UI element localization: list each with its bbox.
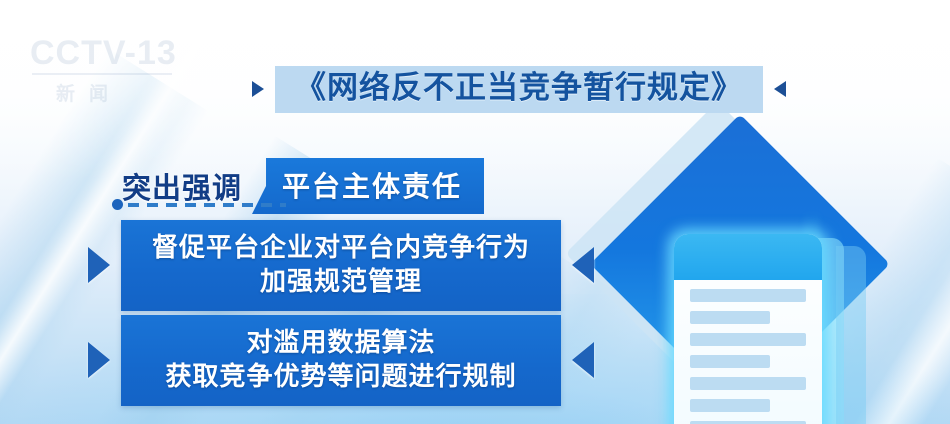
triangle-left-icon (572, 247, 594, 283)
triangle-right-icon (252, 81, 264, 97)
point-box-2: 对滥用数据算法 获取竞争优势等问题进行规制 (121, 315, 561, 406)
emphasis-underline (112, 199, 286, 210)
broadcast-graphic-slide: CCTV-13 新闻 《网络反不正当竞争暂行规定》 突出强调 (0, 0, 950, 424)
headline-band: 《网络反不正当竞争暂行规定》 (275, 66, 763, 113)
point-line: 获取竞争优势等问题进行规制 (139, 359, 543, 393)
emphasis-banner: 平台主体责任 (252, 158, 484, 214)
cctv-channel-label: 新闻 (30, 79, 190, 106)
point-box-1: 督促平台企业对平台内竞争行为 加强规范管理 (121, 220, 561, 311)
document-text-line (690, 355, 770, 368)
triangle-left-icon (572, 342, 594, 378)
document-diamond-illustration (608, 142, 938, 424)
cctv-channel-text: CCTV-13 (30, 36, 190, 70)
triangle-left-icon (774, 81, 786, 97)
point-line: 督促平台企业对平台内竞争行为 (139, 230, 543, 264)
document-header-bar (674, 234, 822, 280)
cctv-watermark: CCTV-13 新闻 (30, 36, 190, 106)
headline-banner: 《网络反不正当竞争暂行规定》 (252, 66, 786, 113)
triangle-right-icon (88, 342, 110, 378)
page-title: 《网络反不正当竞争暂行规定》 (295, 71, 743, 106)
triangle-right-icon (88, 247, 110, 283)
document-icon (674, 234, 822, 424)
bullet-dot-icon (112, 199, 123, 210)
document-text-line (690, 311, 770, 324)
document-sheet-back-2 (836, 246, 866, 424)
dashed-line (128, 203, 286, 207)
document-text-line (690, 377, 806, 390)
document-text-line (690, 399, 770, 412)
point-line: 对滥用数据算法 (139, 325, 543, 359)
emphasis-banner-text: 平台主体责任 (282, 171, 462, 202)
document-text-line (690, 333, 806, 346)
point-line: 加强规范管理 (139, 264, 543, 298)
point-row-1: 督促平台企业对平台内竞争行为 加强规范管理 (88, 220, 594, 311)
cctv-watermark-rule (32, 73, 172, 75)
point-row-2: 对滥用数据算法 获取竞争优势等问题进行规制 (88, 315, 594, 406)
document-text-line (690, 289, 806, 302)
